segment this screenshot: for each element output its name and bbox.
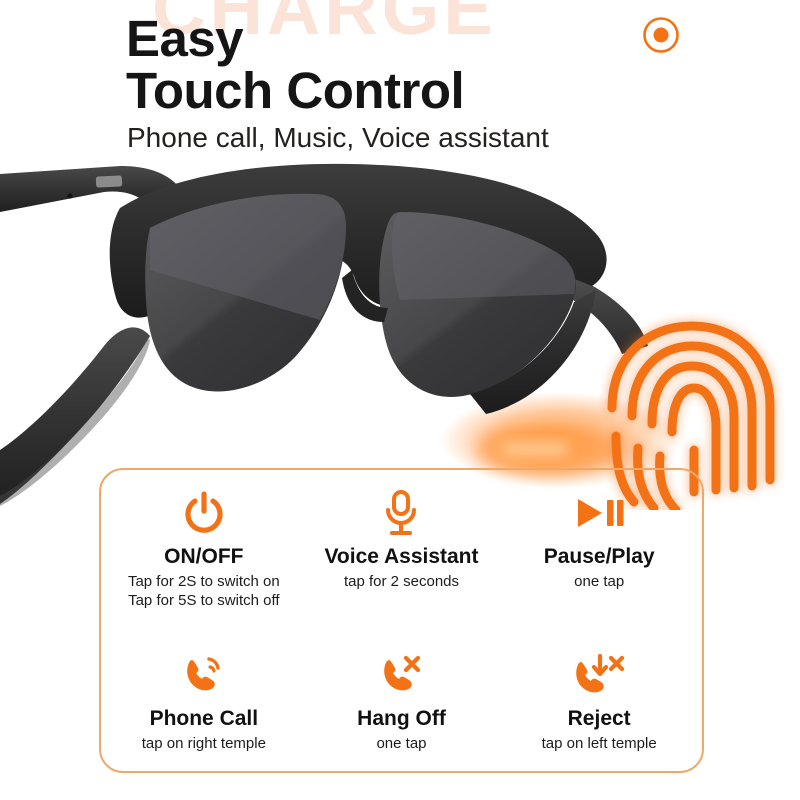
feature-subtitle: tap on left temple bbox=[542, 734, 657, 753]
feature-subtitle: tap on right temple bbox=[142, 734, 266, 753]
page-title-line2: Touch Control bbox=[126, 66, 464, 116]
feature-subtitle: one tap bbox=[574, 572, 624, 591]
feature-subtitle: one tap bbox=[376, 734, 426, 753]
play-pause-icon bbox=[573, 488, 625, 538]
feature-phone-call: Phone Call tap on right temple bbox=[105, 636, 303, 773]
feature-pause-play: Pause/Play one tap bbox=[500, 468, 698, 636]
feature-subtitle: Tap for 2S to switch on Tap for 5S to sw… bbox=[128, 572, 280, 610]
feature-on-off: ON/OFF Tap for 2S to switch on Tap for 5… bbox=[105, 468, 303, 636]
feature-grid: ON/OFF Tap for 2S to switch on Tap for 5… bbox=[99, 468, 704, 773]
feature-hang-off: Hang Off one tap bbox=[303, 636, 501, 773]
power-icon bbox=[183, 488, 225, 538]
feature-subtitle: tap for 2 seconds bbox=[344, 572, 459, 591]
feature-title: Hang Off bbox=[357, 706, 446, 731]
feature-title: ON/OFF bbox=[164, 544, 243, 569]
feature-title: Phone Call bbox=[150, 706, 259, 731]
phone-reject-icon bbox=[571, 650, 627, 700]
feature-title: Pause/Play bbox=[544, 544, 655, 569]
feature-reject: Reject tap on left temple bbox=[500, 636, 698, 773]
product-feature-infographic: CHARGE Easy Touch Control Phone call, Mu… bbox=[0, 0, 800, 800]
phone-hangup-icon bbox=[377, 650, 425, 700]
product-image bbox=[0, 150, 800, 510]
microphone-icon bbox=[381, 488, 421, 538]
record-target-icon bbox=[640, 14, 682, 56]
phone-call-icon bbox=[180, 650, 228, 700]
feature-title: Reject bbox=[568, 706, 631, 731]
feature-title: Voice Assistant bbox=[324, 544, 478, 569]
page-title-line1: Easy bbox=[126, 14, 243, 64]
feature-voice-assistant: Voice Assistant tap for 2 seconds bbox=[303, 468, 501, 636]
